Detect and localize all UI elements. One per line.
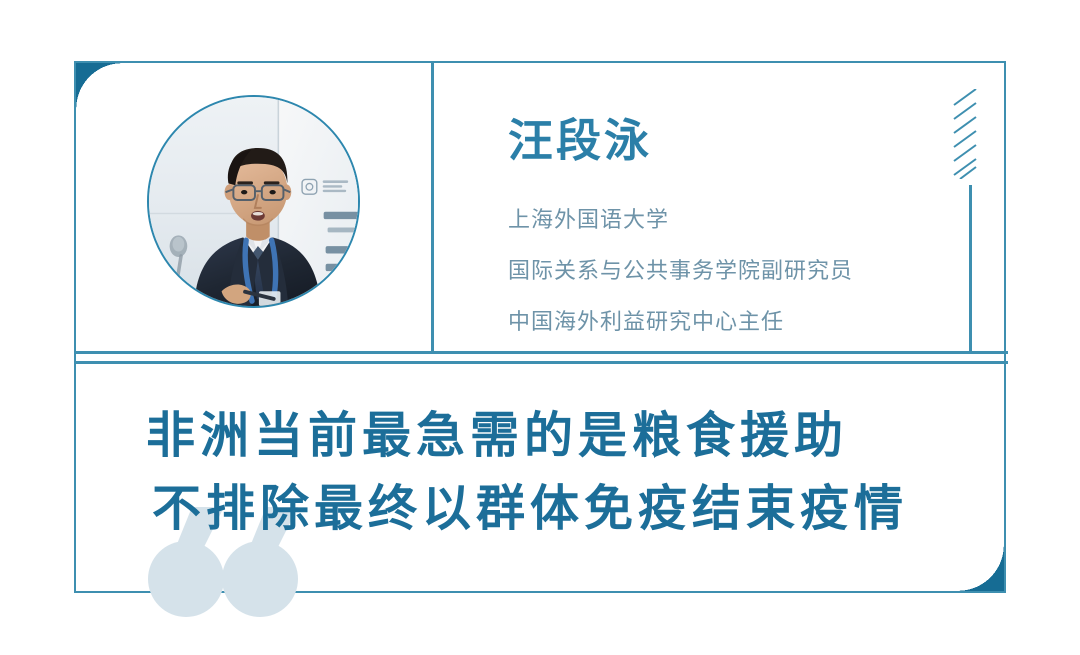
quote-text: 非洲当前最急需的是粮食援助 不排除最终以群体免疫结束疫情	[146, 399, 986, 545]
affiliation-line-1: 上海外国语大学	[508, 194, 988, 245]
speaker-affiliation: 上海外国语大学 国际关系与公共事务学院副研究员 中国海外利益研究中心主任	[508, 194, 988, 347]
speaker-name: 汪段泳	[508, 118, 652, 163]
quote-card-canvas: 汪段泳 上海外国语大学 国际关系与公共事务学院副研究员 中国海外利益研究中心主任	[0, 0, 1080, 655]
affiliation-line-3: 中国海外利益研究中心主任	[508, 296, 988, 347]
divider-horizontal-upper	[76, 351, 1008, 354]
avatar-photo	[149, 97, 358, 306]
photo-cell	[76, 63, 431, 351]
affiliation-line-2: 国际关系与公共事务学院副研究员	[508, 245, 988, 296]
card-frame: 汪段泳 上海外国语大学 国际关系与公共事务学院副研究员 中国海外利益研究中心主任	[74, 61, 1006, 593]
quote-cell: 非洲当前最急需的是粮食援助 不排除最终以群体免疫结束疫情	[76, 364, 1008, 592]
quote-line-2: 不排除最终以群体免疫结束疫情	[146, 472, 986, 545]
speaker-info-cell: 汪段泳 上海外国语大学 国际关系与公共事务学院副研究员 中国海外利益研究中心主任	[431, 63, 1008, 351]
speaker-avatar	[147, 95, 360, 308]
quote-line-1: 非洲当前最急需的是粮食援助	[146, 399, 986, 472]
